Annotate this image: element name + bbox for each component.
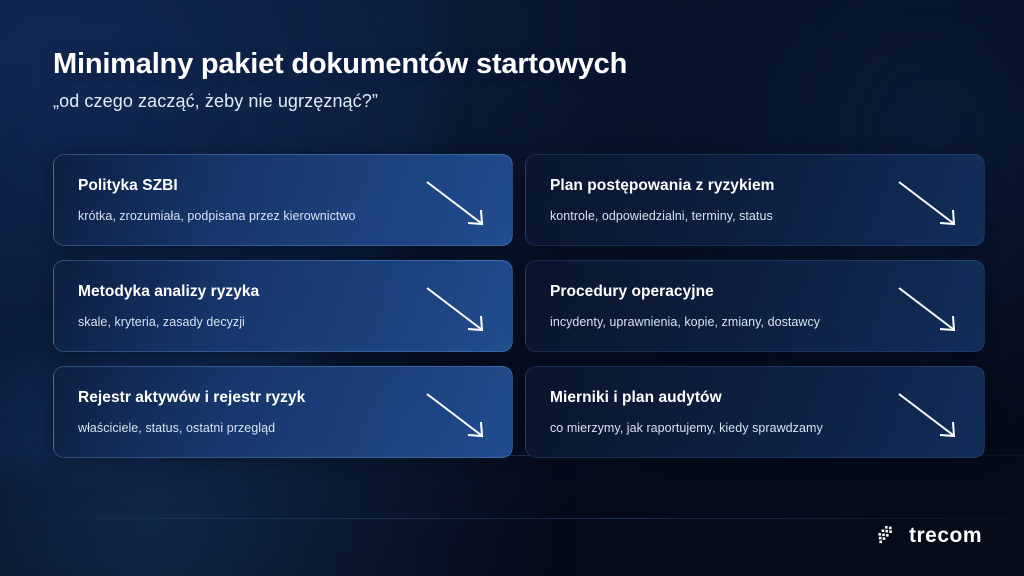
background-line-2: [0, 518, 1024, 519]
card-title: Polityka SZBI: [78, 177, 488, 195]
brand-wordmark: trecom: [909, 524, 982, 548]
card-description: skale, kryteria, zasady decyzji: [78, 315, 488, 329]
card-description: kontrole, odpowiedzialni, terminy, statu…: [550, 209, 960, 223]
card-rejestr-aktywow-i-rejestr-ryzyk[interactable]: Rejestr aktywów i rejestr ryzyk właścici…: [53, 366, 513, 458]
slide-root: Minimalny pakiet dokumentów startowych „…: [0, 0, 1024, 576]
card-polityka-szbi[interactable]: Polityka SZBI krótka, zrozumiała, podpis…: [53, 154, 513, 246]
card-title: Procedury operacyjne: [550, 283, 960, 301]
card-description: właściciele, status, ostatni przegląd: [78, 421, 488, 435]
slide-title: Minimalny pakiet dokumentów startowych: [53, 48, 627, 81]
card-mierniki-i-plan-audytow[interactable]: Mierniki i plan audytów co mierzymy, jak…: [525, 366, 985, 458]
card-title: Metodyka analizy ryzyka: [78, 283, 488, 301]
card-title: Mierniki i plan audytów: [550, 389, 960, 407]
card-description: krótka, zrozumiała, podpisana przez kier…: [78, 209, 488, 223]
card-metodyka-analizy-ryzyka[interactable]: Metodyka analizy ryzyka skale, kryteria,…: [53, 260, 513, 352]
card-plan-postepowania-z-ryzykiem[interactable]: Plan postępowania z ryzykiem kontrole, o…: [525, 154, 985, 246]
slide-subtitle: „od czego zacząć, żeby nie ugrzęznąć?”: [53, 91, 627, 112]
card-title: Rejestr aktywów i rejestr ryzyk: [78, 389, 488, 407]
card-procedury-operacyjne[interactable]: Procedury operacyjne incydenty, uprawnie…: [525, 260, 985, 352]
card-description: incydenty, uprawnienia, kopie, zmiany, d…: [550, 315, 960, 329]
card-description: co mierzymy, jak raportujemy, kiedy spra…: [550, 421, 960, 435]
slide-header: Minimalny pakiet dokumentów startowych „…: [53, 48, 627, 112]
card-grid: Polityka SZBI krótka, zrozumiała, podpis…: [53, 154, 985, 458]
card-title: Plan postępowania z ryzykiem: [550, 177, 960, 195]
brand-logo: trecom: [878, 524, 982, 548]
trecom-dots-logo-icon: [878, 526, 900, 546]
